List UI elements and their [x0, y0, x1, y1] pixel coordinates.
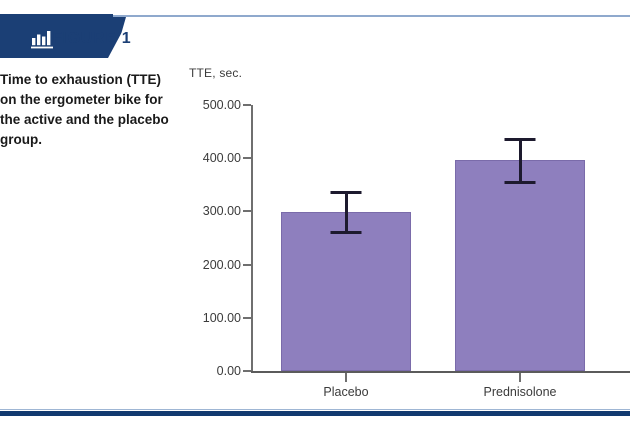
x-tick-mark — [519, 373, 521, 382]
y-tick-label: 500.00 — [183, 98, 241, 112]
y-tick-label: 300.00 — [183, 204, 241, 218]
y-tick-mark — [243, 157, 251, 159]
figure-title: FIGURE 1 — [52, 30, 131, 48]
bar-prednisolone — [455, 160, 585, 371]
y-tick-mark — [243, 370, 251, 372]
y-tick-label: 100.00 — [183, 311, 241, 325]
y-tick-mark — [243, 104, 251, 106]
error-bar-cap-upper-prednisolone — [505, 138, 536, 141]
y-axis-title: TTE, sec. — [189, 66, 242, 80]
y-tick-mark — [243, 264, 251, 266]
bar-placebo — [281, 212, 411, 371]
x-tick-mark — [345, 373, 347, 382]
error-bar-cap-upper-placebo — [331, 191, 362, 194]
chart-plot-area: TTE, sec. 500.00 400.00 300.00 200.00 10… — [183, 66, 630, 406]
y-tick-label: 200.00 — [183, 258, 241, 272]
error-bar-cap-lower-placebo — [331, 231, 362, 234]
bottom-divider-hairline — [0, 409, 630, 410]
error-bar-cap-lower-prednisolone — [505, 181, 536, 184]
error-bar-stem-prednisolone — [519, 138, 522, 183]
y-tick-mark — [243, 210, 251, 212]
y-axis-line — [251, 105, 253, 372]
y-tick-label: 0.00 — [183, 364, 241, 378]
x-axis-line — [251, 371, 630, 373]
figure-panel: FIGURE 1 Time to exhaustion (TTE) on the… — [0, 0, 630, 426]
error-bar-stem-placebo — [345, 191, 348, 234]
x-tick-label-placebo: Placebo — [323, 385, 368, 399]
y-tick-mark — [243, 317, 251, 319]
y-tick-label: 400.00 — [183, 151, 241, 165]
x-tick-label-prednisolone: Prednisolone — [484, 385, 557, 399]
bottom-divider-rule — [0, 411, 630, 416]
figure-caption: Time to exhaustion (TTE) on the ergomete… — [0, 70, 172, 150]
